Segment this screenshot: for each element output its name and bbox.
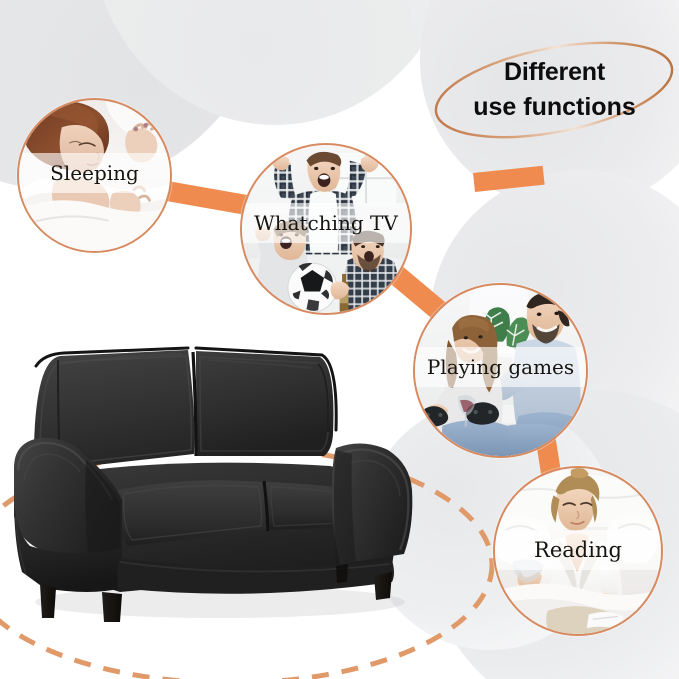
feature-caption-reading: Reading xyxy=(534,538,622,562)
caption-band-reading: Reading xyxy=(495,530,661,570)
infographic-canvas: Different use functions xyxy=(0,0,679,679)
product-image-loveseat xyxy=(0,330,440,630)
title-line-2: use functions xyxy=(473,92,636,123)
feature-caption-sleeping: Sleeping xyxy=(50,161,139,185)
feature-caption-watching-tv: Whatching TV xyxy=(254,211,398,235)
caption-band-sleeping: Sleeping xyxy=(19,153,170,193)
caption-band-playing-games: Playing games xyxy=(415,347,586,387)
feature-circle-reading[interactable]: Reading xyxy=(493,466,663,636)
caption-band-watching-tv: Whatching TV xyxy=(242,203,410,243)
title-block: Different use functions xyxy=(430,30,679,150)
feature-circle-watching-tv[interactable]: Whatching TV xyxy=(240,143,412,315)
title-line-1: Different xyxy=(504,57,605,88)
feature-caption-playing-games: Playing games xyxy=(427,355,574,379)
title-text-group: Different use functions xyxy=(430,30,679,150)
feature-circle-sleeping[interactable]: Sleeping xyxy=(17,98,172,253)
